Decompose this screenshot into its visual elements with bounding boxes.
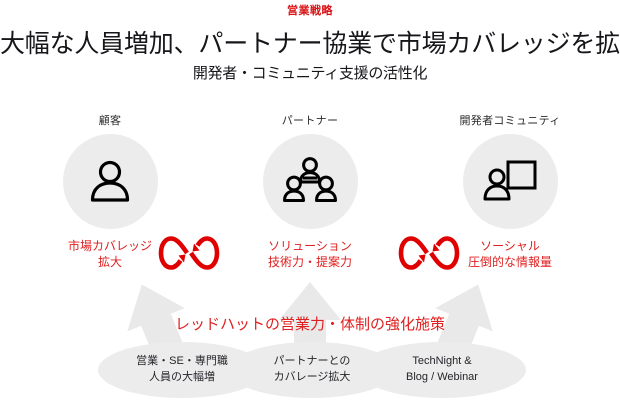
pillar-label-line2: 技術力・提案力 [220, 254, 400, 270]
page-subtitle: 開発者・コミュニティ支援の活性化 [0, 62, 620, 83]
connector-customer-partner [158, 232, 220, 274]
slide-canvas: 営業戦略 大幅な人員増加、パートナー協業で市場カバレッジを拡大 開発者・コミュニ… [0, 0, 620, 405]
pillar-icon-circle-partner [263, 134, 358, 229]
pillar-label-line1: ソーシャル [480, 239, 540, 253]
people-network-icon [281, 156, 339, 208]
initiative-pill-text: TechNight & Blog / Webinar [406, 354, 478, 386]
initiatives-group: 営業・SE・専門職 人員の大幅増 パートナーとの カバレージ拡大 TechNig… [0, 340, 620, 402]
pillar-header-partner: パートナー [220, 112, 400, 128]
pillar-icon-circle-developer-community [463, 134, 558, 229]
pillar-icon-circle-customer [63, 134, 158, 229]
eyebrow-label: 営業戦略 [0, 2, 620, 18]
initiative-line1: パートナーとの [274, 355, 351, 367]
pillar-partner: パートナー ソリューション 技術力・提案 [220, 112, 400, 270]
initiative-line1: 営業・SE・専門職 [136, 355, 228, 367]
initiative-line2: カバレージ拡大 [274, 370, 351, 386]
initiative-pill-technight: TechNight & Blog / Webinar [358, 342, 526, 398]
page-title: 大幅な人員増加、パートナー協業で市場カバレッジを拡大 [0, 24, 620, 60]
pillar-header-developer-community: 開発者コミュニティ [420, 112, 600, 128]
single-person-icon [84, 156, 136, 208]
band-label: レッドハットの営業力・体制の強化施策 [0, 313, 620, 334]
initiative-pill-text: パートナーとの カバレージ拡大 [274, 354, 351, 386]
initiative-line2: 人員の大幅増 [136, 370, 228, 386]
pillar-label-partner: ソリューション 技術力・提案力 [220, 238, 400, 270]
initiative-line1: TechNight & [412, 355, 471, 367]
initiative-pill-text: 営業・SE・専門職 人員の大幅増 [136, 354, 228, 386]
person-presentation-icon [481, 156, 539, 208]
initiative-line2: Blog / Webinar [406, 370, 478, 386]
pillar-label-line1: 市場カバレッジ [68, 239, 152, 253]
pillar-label-line1: ソリューション [268, 239, 352, 253]
connector-partner-developer-community [398, 232, 460, 274]
pillar-header-customer: 顧客 [20, 112, 200, 128]
